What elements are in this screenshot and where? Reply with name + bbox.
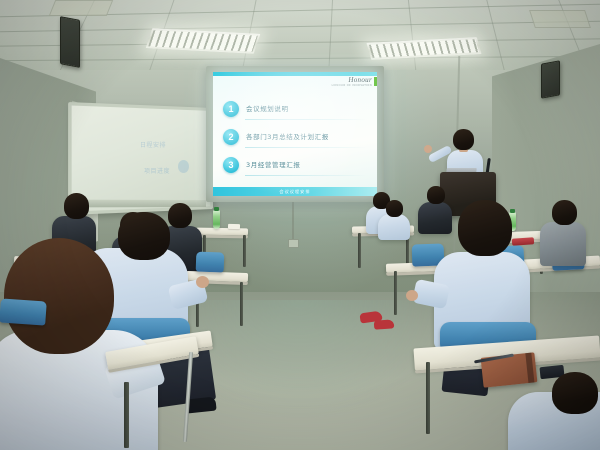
logo-mark-icon [374, 77, 377, 86]
attendee-head [458, 200, 512, 256]
logo-name: Honour [332, 77, 372, 84]
water-bottle [213, 210, 220, 229]
shoe [374, 319, 395, 329]
chair [196, 252, 225, 273]
whiteboard-text: 日程安排 [140, 140, 166, 149]
agenda-number-badge: 2 [223, 129, 239, 145]
agenda-underline [245, 147, 367, 148]
projection-screen-frame: Honour HONOUR OF INNOVATION 1 会议规划说明 2 各… [206, 66, 384, 202]
agenda-number-badge: 1 [223, 101, 239, 117]
attendee-head [118, 212, 170, 260]
whiteboard [68, 102, 213, 215]
slide-agenda-list: 1 会议规划说明 2 各部门3月总结及计划汇报 3 3月经营管理汇报 [223, 100, 369, 184]
presenter-head [453, 129, 474, 150]
whiteboard-text: 项目进度 [144, 166, 170, 175]
ceiling-vent [529, 10, 591, 28]
agenda-underline [245, 175, 367, 176]
slide-footer: 会议议程安排 [213, 187, 377, 196]
agenda-item: 2 各部门3月总结及计划汇报 [223, 128, 369, 156]
paper [228, 224, 240, 229]
wall-speaker-icon [541, 60, 560, 98]
agenda-item: 3 3月经营管理汇报 [223, 156, 369, 184]
agenda-item-label: 各部门3月总结及计划汇报 [246, 131, 329, 141]
ceiling-vent [49, 0, 113, 16]
ceiling-light-fixture [146, 28, 261, 54]
agenda-item: 1 会议规划说明 [223, 100, 369, 128]
agenda-item-label: 3月经营管理汇报 [246, 159, 300, 169]
agenda-item-label: 会议规划说明 [246, 103, 289, 113]
power-outlet-icon [288, 239, 299, 248]
meeting-room-photo: 日程安排 项目进度 Honour HONOUR OF INNOVATION 1 … [0, 0, 600, 450]
agenda-number-badge: 3 [223, 157, 239, 173]
agenda-underline [245, 119, 367, 120]
attendee-hair [4, 238, 114, 354]
projection-screen: Honour HONOUR OF INNOVATION 1 会议规划说明 2 各… [213, 72, 377, 196]
whiteboard-mark [178, 160, 189, 173]
company-logo: Honour HONOUR OF INNOVATION [332, 77, 372, 88]
chair [0, 298, 47, 325]
logo-tagline: HONOUR OF INNOVATION [332, 85, 372, 88]
wall-speaker-icon [60, 16, 80, 68]
